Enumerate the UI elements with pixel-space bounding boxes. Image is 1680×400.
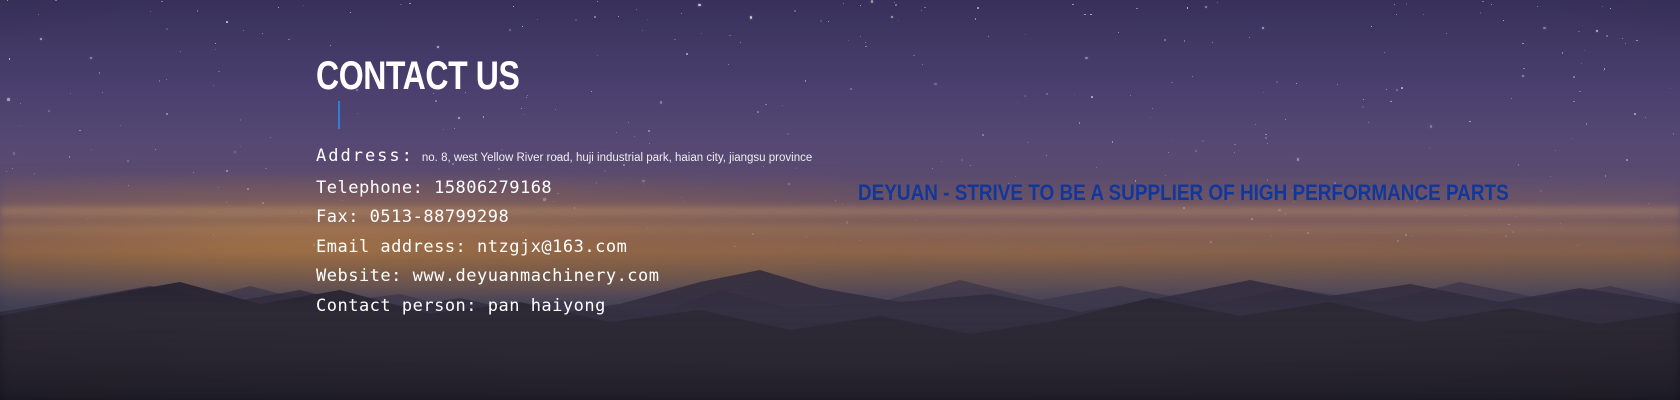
contact-website-row[interactable]: Website: www.deyuanmachinery.com	[316, 262, 812, 292]
title-accent-bar	[338, 101, 340, 129]
contact-fax-row: Fax: 0513-88799298	[316, 203, 812, 233]
contact-person-row: Contact person: pan haiyong	[316, 292, 812, 322]
contact-address-row: Address:no. 8, west Yellow River road, h…	[316, 142, 812, 174]
page-title: CONTACT US	[316, 56, 519, 96]
contact-email-row[interactable]: Email address: ntzgjx@163.com	[316, 233, 812, 263]
address-label: Address:	[316, 146, 414, 166]
company-slogan: DEYUAN - STRIVE TO BE A SUPPLIER OF HIGH…	[858, 182, 1509, 204]
contact-details-list: Address:no. 8, west Yellow River road, h…	[316, 142, 812, 321]
contact-telephone-row: Telephone: 15806279168	[316, 174, 812, 204]
address-value: no. 8, west Yellow River road, huji indu…	[414, 152, 812, 164]
contact-us-banner: CONTACT US Address:no. 8, west Yellow Ri…	[0, 0, 1680, 400]
